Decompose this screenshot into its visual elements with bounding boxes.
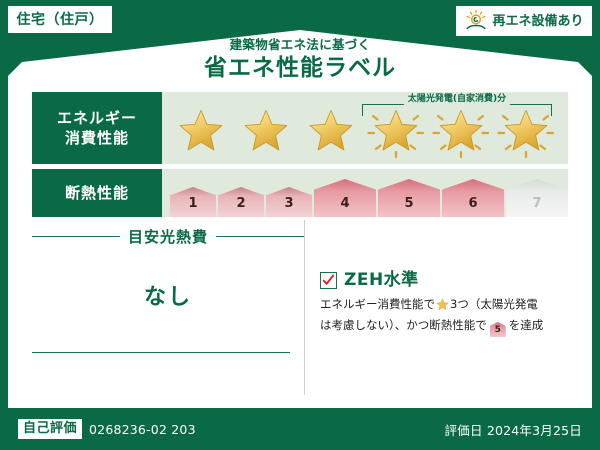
energy-label-root: 住宅（住戸） 再エネ設備あり 建築物省エネ法に基づく [0,0,600,450]
grade-value: 5 [404,196,413,217]
insulation-grade-2: 2 [218,187,264,217]
star-base [170,102,232,160]
zeh-desc-part1: エネルギー消費性能で [320,297,435,311]
zeh-desc-part3: は考慮しない）、かつ断熱性能で [320,318,487,332]
energy-cost-header: 目安光熱費 [32,226,304,247]
star-solar [495,102,557,160]
insulation-grade-3: 3 [266,187,312,217]
evaluation-type-badge: 自己評価 [18,419,82,439]
grade-value: 7 [532,196,541,217]
label-footer: 自己評価 0268236-02 203 評価日 2024年3月25日 [0,408,600,450]
star-solar [365,102,427,160]
insulation-grade-scale: 1234567 [162,169,568,217]
grade-value: 2 [236,196,245,217]
star-base [300,102,362,160]
zeh-desc-part4: を達成 [509,318,544,332]
insulation-grade-7: 7 [506,179,568,217]
evaluation-date: 評価日 2024年3月25日 [445,420,582,439]
grade-value: 4 [340,196,349,217]
renewable-energy-badge: 再エネ設備あり [456,6,592,36]
insulation-grade-5: 5 [378,179,440,217]
zeh-block: ZEH水準 エネルギー消費性能で3つ（太陽光発電は考慮しない）、かつ断熱性能で5… [304,220,568,395]
building-type-badge-label: 住宅（住戸） [17,13,104,27]
renewable-badge-label: 再エネ設備あり [492,15,583,28]
insulation-performance-label: 断熱性能 [32,169,162,217]
energy-performance-label-line1: エネルギー [57,108,137,128]
grade-value: 6 [468,196,477,217]
zeh-desc-part2: 3つ（太陽光発電 [450,297,538,311]
label-title: 省エネ性能ラベル [8,55,592,81]
zeh-grade-badge-value: 5 [490,322,506,338]
grade-value: 1 [188,196,197,217]
insulation-grade-4: 4 [314,179,376,217]
bottom-section: 目安光熱費 なし ZEH水準 [32,220,568,395]
footer-left: 自己評価 0268236-02 203 [18,419,196,439]
energy-cost-rule-left [32,236,120,237]
energy-performance-value: 太陽光発電(自家消費)分 [162,92,568,164]
energy-cost-title: 目安光熱費 [128,226,208,247]
insulation-performance-label-text: 断熱性能 [65,183,129,203]
insulation-grade-6: 6 [442,179,504,217]
energy-cost-block: 目安光熱費 なし [32,220,304,395]
check-icon [322,274,335,287]
star-solar [430,102,492,160]
energy-performance-row: エネルギー 消費性能 太陽光発電(自家消費)分 [32,92,568,164]
energy-performance-label-line2: 消費性能 [65,128,129,148]
zeh-description: エネルギー消費性能で3つ（太陽光発電は考慮しない）、かつ断熱性能で5を達成 [320,296,568,337]
insulation-performance-row: 断熱性能 1234567 [32,169,568,217]
star-base [235,102,297,160]
grade-value: 3 [284,196,293,217]
zeh-title: ZEH水準 [344,272,419,289]
insulation-performance-value: 1234567 [162,169,568,217]
zeh-grade-badge: 5 [490,322,506,337]
star-icon [436,298,449,317]
section-divider [304,220,305,395]
energy-performance-label: エネルギー 消費性能 [32,92,162,164]
zeh-header: ZEH水準 [320,272,568,289]
label-title-block: 建築物省エネ法に基づく 省エネ性能ラベル [8,38,592,81]
energy-cost-value: なし [32,279,304,311]
sun-renewable-icon [464,9,488,33]
building-type-badge: 住宅（住戸） [8,6,112,33]
zeh-checkbox[interactable] [320,272,337,289]
label-subtitle: 建築物省エネ法に基づく [8,38,592,52]
energy-cost-rule-bottom [32,352,290,353]
energy-cost-rule-right [216,236,304,237]
evaluation-id: 0268236-02 203 [89,422,196,437]
label-panel: 建築物省エネ法に基づく 省エネ性能ラベル エネルギー 消費性能 太陽光発電(自家… [8,30,592,408]
insulation-grade-1: 1 [170,187,216,217]
energy-star-rating [162,102,557,160]
performance-table: エネルギー 消費性能 太陽光発電(自家消費)分 断熱性能 [32,92,568,222]
